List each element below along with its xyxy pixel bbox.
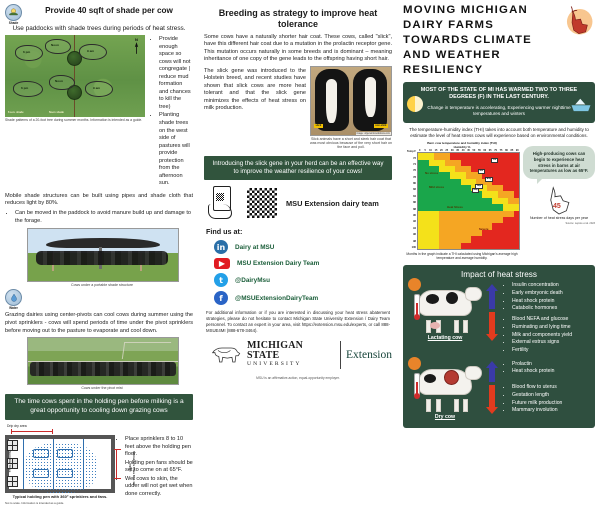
michigan-state-icon [561, 3, 595, 37]
cow-logo-icon [208, 343, 242, 367]
poster-root: Shade Provide 40 sqft of shade per cow U… [0, 0, 600, 463]
contact-text: For additional information or if you are… [206, 310, 390, 334]
drip-dry-measure [11, 429, 53, 434]
slick-cow-photo: slick non-slick image: ufgenomicsolution… [310, 66, 392, 152]
shade-badge: Shade [5, 4, 22, 25]
middle-column: Breeding as strategy to improve heat tol… [198, 0, 398, 463]
msu-line2: UNIVERSITY [247, 361, 335, 368]
sprinkler-spacing-label: Sprinklers lines 8 to 10' apart [128, 447, 135, 489]
thermometer-icon [414, 294, 420, 318]
shade-icon [5, 4, 22, 21]
dry-cow-figure: Dry cow [408, 361, 482, 420]
social-name-facebook: @MSUExtensionDairyTeam [235, 295, 318, 302]
pen-bullet-2: Wet cows to skin, the udder will not get… [125, 476, 193, 499]
dry-effects: Prolactin Heat shock protein Blood flow … [504, 361, 590, 418]
msu-line1: MICHIGAN STATE [247, 341, 335, 361]
lactating-down-2: Milk and components yield [512, 332, 590, 339]
pivot-photo-caption: Cows under the pivot mist [27, 386, 177, 390]
lactating-down-1: Ruminating and lying time [512, 324, 590, 331]
mobile-shade-bullets: Can be moved in the paddock to avoid man… [15, 210, 193, 225]
holding-pen-banner: The time cows spent in the holding pen b… [5, 394, 193, 420]
shade-subheading: Use paddocks with shade trees during per… [5, 25, 193, 32]
thi-y-axis: Temp F 7274767880828486889092949698100 [403, 149, 417, 250]
zone-label-2: Heat Stress [447, 205, 463, 209]
holding-pen-note: Not to scale. Information is intended as… [5, 502, 115, 505]
linkedin-icon: in [214, 240, 228, 254]
shade-bullet-1: Planting shade trees on the west side of… [159, 112, 193, 187]
lactating-up-2: Heat shock protein [512, 298, 590, 305]
thi-plot: 051015202530354045505560657075808590 No … [417, 149, 520, 250]
thi-chart-area: Barn cow temperature and humidity index … [403, 142, 595, 260]
holding-pen-bullets: Place sprinklers 8 to 10 feet above the … [125, 436, 193, 499]
photo-tag-slick: slick [314, 124, 323, 128]
facebook-icon: f [214, 291, 228, 305]
drip-dry-label: Drip dry area [7, 424, 193, 428]
social-name-linkedin: Dairy at MSU [235, 244, 274, 251]
thi-cells [417, 152, 520, 250]
warming-body: Change in temperature is accelerating, E… [409, 105, 589, 117]
iceberg-icon [570, 98, 592, 114]
social-name-youtube: MSU Extension Dairy Team [237, 260, 319, 267]
arrow-down-icon [489, 312, 495, 341]
slick-gene-banner: Introducing the slick gene in your herd … [204, 156, 392, 181]
shade-pattern-diagram: 6 pm Noon 9 am 6 pm Noon 9 am N 6 a.m. s… [5, 35, 145, 124]
social-link-youtube[interactable]: ▶ MSU Extension Dairy Team [214, 258, 392, 269]
warming-callout: MOST OF THE STATE OF MI HAS WARMED TWO T… [403, 82, 595, 123]
lactating-up-3: Catabolic hormones [512, 305, 590, 312]
holding-pen-caption: Typical holding pen with 360° sprinklers… [5, 495, 115, 500]
thi-month-marker-jul: Jul [491, 158, 497, 163]
map-label-0: 6 pm [23, 50, 30, 54]
heat-stress-bubble: High-producing cows can begin to experie… [523, 146, 595, 179]
dry-cow-row: Dry cow Prolactin Heat shock protein [408, 361, 590, 421]
breeding-paragraph-1: Some cows have a naturally shorter hair … [204, 34, 392, 64]
pivot-photo: Cows under the pivot mist [27, 337, 193, 390]
twitter-icon: t [214, 273, 228, 287]
social-link-facebook[interactable]: f @MSUExtensionDairyTeam [214, 291, 392, 305]
lactating-effects: Insulin concentration Early embryonic de… [504, 282, 590, 357]
social-name-twitter: @DairyMsu [235, 277, 270, 284]
thi-xtick-18: 90 [515, 149, 520, 152]
water-badge: Water [5, 289, 22, 310]
thi-month-marker-aug: Aug [485, 177, 492, 182]
water-text: Grazing dairies using center-pivots can … [5, 312, 193, 335]
shade-bullet-0: Provide enough space so cows will not co… [159, 36, 193, 111]
thi-side-panel: High-producing cows can begin to experie… [523, 142, 595, 225]
slick-photo-caption: Slick animals have a short and sleek hai… [310, 137, 392, 150]
shade-structure-photo: Cows under a portable shade structure [27, 228, 193, 287]
thi-month-marker-jun: Jun [478, 169, 485, 174]
thi-heatmap: Barn cow temperature and humidity index … [403, 142, 521, 260]
dry-up-1: Heat shock protein [512, 368, 590, 375]
dry-increase-list: Prolactin Heat shock protein [512, 361, 590, 375]
thi-month-marker-may: May [472, 188, 479, 193]
zone-label-3: Severe [479, 227, 488, 231]
mobile-shade-bullet-0: Can be moved in the paddock to avoid man… [15, 210, 193, 225]
social-link-linkedin[interactable]: in Dairy at MSU [214, 240, 392, 254]
map-label-1: Noon [51, 43, 59, 47]
thermometer-icon-2 [414, 373, 420, 397]
mobile-shade-text: Mobile shade structures can be built usi… [5, 193, 193, 208]
sprinkler-lines-label: Sprinkler lines [8, 451, 12, 472]
holding-pen-diagram: Sprinkler lines Sprinklers lines 8 to 10… [5, 435, 115, 507]
qr-code[interactable] [246, 187, 278, 219]
heat-days-caption: Number of heat stress days per year [523, 216, 595, 220]
dry-down-0: Blood flow to uterus [512, 384, 590, 391]
map-label-4: Noon [55, 79, 63, 83]
qr-title: MSU Extension dairy team [286, 199, 379, 208]
msu-extension-word: Extension [346, 349, 392, 361]
youtube-icon: ▶ [214, 258, 230, 269]
arrow-down-icon-2 [489, 385, 495, 414]
photo-source: image: ufgenomicsolutions.com [356, 132, 392, 135]
lactating-down-0: Blood NEFA and glucose [512, 316, 590, 323]
warming-header: MOST OF THE STATE OF MI HAS WARMED TWO T… [409, 87, 589, 101]
thi-row [418, 243, 519, 249]
arrow-up-icon [489, 284, 495, 309]
map-label-3: 6 pm [21, 86, 28, 90]
chart-source: Source: Lepore et al. 2023 [523, 222, 595, 225]
map-scale-right: Noon shade [49, 111, 64, 114]
lactating-cow-figure: Lactating cow [408, 282, 482, 341]
photo-tag-nonslick: non-slick [374, 124, 388, 128]
dry-down-3: Mammary involution [512, 407, 590, 414]
msu-logo: MICHIGAN STATE UNIVERSITY Extension [208, 341, 392, 368]
right-column: MOVING MICHIGAN DAIRY FARMS TOWARDS CLIM… [398, 0, 600, 463]
impact-panel: Impact of heat stress [403, 265, 595, 427]
water-icon [5, 289, 22, 306]
phone-scan-icon [208, 186, 238, 220]
map-label-2: 9 am [87, 49, 94, 53]
north-arrow-icon: N [134, 38, 139, 55]
shade-heading: Provide 40 sqft of shade per cow [25, 6, 193, 16]
shade-map-caption: Shade patterns of a 20-foot tree during … [5, 118, 145, 122]
thi-x-ticks: 051015202530354045505560657075808590 [417, 149, 520, 152]
shade-structure-caption: Cows under a portable shade structure [27, 283, 177, 287]
arrow-up-icon-2 [489, 361, 495, 382]
lactating-decrease-list: Blood NEFA and glucose Ruminating and ly… [512, 316, 590, 354]
dry-up-0: Prolactin [512, 361, 590, 368]
lactating-up-1: Early embryonic death [512, 290, 590, 297]
social-link-twitter[interactable]: t @DairyMsu [214, 273, 392, 287]
impact-title: Impact of heat stress [408, 270, 590, 279]
dry-cow-label: Dry cow [408, 414, 482, 420]
lactating-cow-row: Lactating cow Insulin concentration Earl… [408, 282, 590, 357]
qr-section: MSU Extension dairy team [208, 186, 392, 220]
dry-decrease-list: Blood flow to uterus Gestation length Fu… [512, 384, 590, 414]
map-scale-left: 6 a.m. shade [8, 111, 24, 114]
thi-note: Months in the graph indicate a THI calcu… [403, 252, 521, 260]
thi-intro-text: The temperature-humidity index (THI) tak… [403, 127, 595, 139]
find-us-label: Find us at: [206, 227, 392, 236]
heat-days-number: 45 [553, 203, 561, 210]
msu-wordmark: MICHIGAN STATE UNIVERSITY [247, 341, 341, 368]
lactating-increase-list: Insulin concentration Early embryonic de… [512, 282, 590, 312]
breeding-paragraph-2: The slick gene was introduced to the Hol… [204, 68, 306, 113]
map-label-5: 9 am [93, 86, 100, 90]
page-title: MOVING MICHIGAN DAIRY FARMS TOWARDS CLIM… [403, 3, 561, 78]
eeo-statement: MSU is an affirmative-action, equal-oppo… [204, 376, 392, 380]
dry-down-1: Gestation length [512, 392, 590, 399]
zone-label-0: No stress [425, 171, 438, 175]
dry-down-2: Future milk production [512, 400, 590, 407]
shade-bullet-list: Provide enough space so cows will not co… [159, 36, 193, 189]
water-badge-label: Water [5, 306, 22, 310]
lactating-up-0: Insulin concentration [512, 282, 590, 289]
michigan-days-map: 45 [545, 185, 573, 215]
left-column: Shade Provide 40 sqft of shade per cow U… [0, 0, 198, 463]
lactating-down-4: Fertility [512, 347, 590, 354]
lactating-cow-label: Lactating cow [408, 335, 482, 341]
zone-label-1: Mild stress [429, 185, 444, 189]
breeding-heading: Breeding as strategy to improve heat tol… [204, 8, 392, 31]
thi-ytick-14: 100 [403, 245, 416, 251]
lactating-down-3: External estrus signs [512, 339, 590, 346]
